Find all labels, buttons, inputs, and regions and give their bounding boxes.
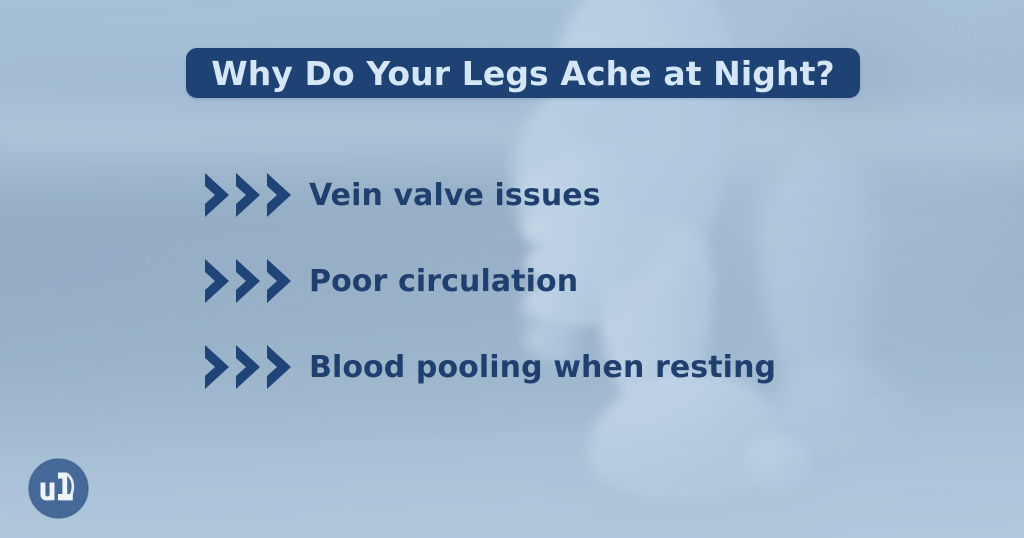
- list-item-label: Blood pooling when resting: [309, 350, 776, 385]
- triple-chevron-right-icon: [203, 171, 295, 219]
- poster-canvas: Why Do Your Legs Ache at Night? Vein val…: [0, 0, 1024, 538]
- list-item-label: Poor circulation: [309, 264, 578, 299]
- list-item-label: Vein valve issues: [309, 178, 601, 213]
- list-item: Blood pooling when resting: [203, 324, 903, 410]
- page-title: Why Do Your Legs Ache at Night?: [211, 57, 834, 90]
- headline-pill: Why Do Your Legs Ache at Night?: [186, 48, 860, 98]
- list-item: Poor circulation: [203, 238, 903, 324]
- list-item: Vein valve issues: [203, 152, 903, 238]
- triple-chevron-right-icon: [203, 343, 295, 391]
- reason-list: Vein valve issues Poor circulation Blood…: [203, 152, 903, 410]
- triple-chevron-right-icon: [203, 257, 295, 305]
- uv-circle-logo[interactable]: [27, 457, 90, 520]
